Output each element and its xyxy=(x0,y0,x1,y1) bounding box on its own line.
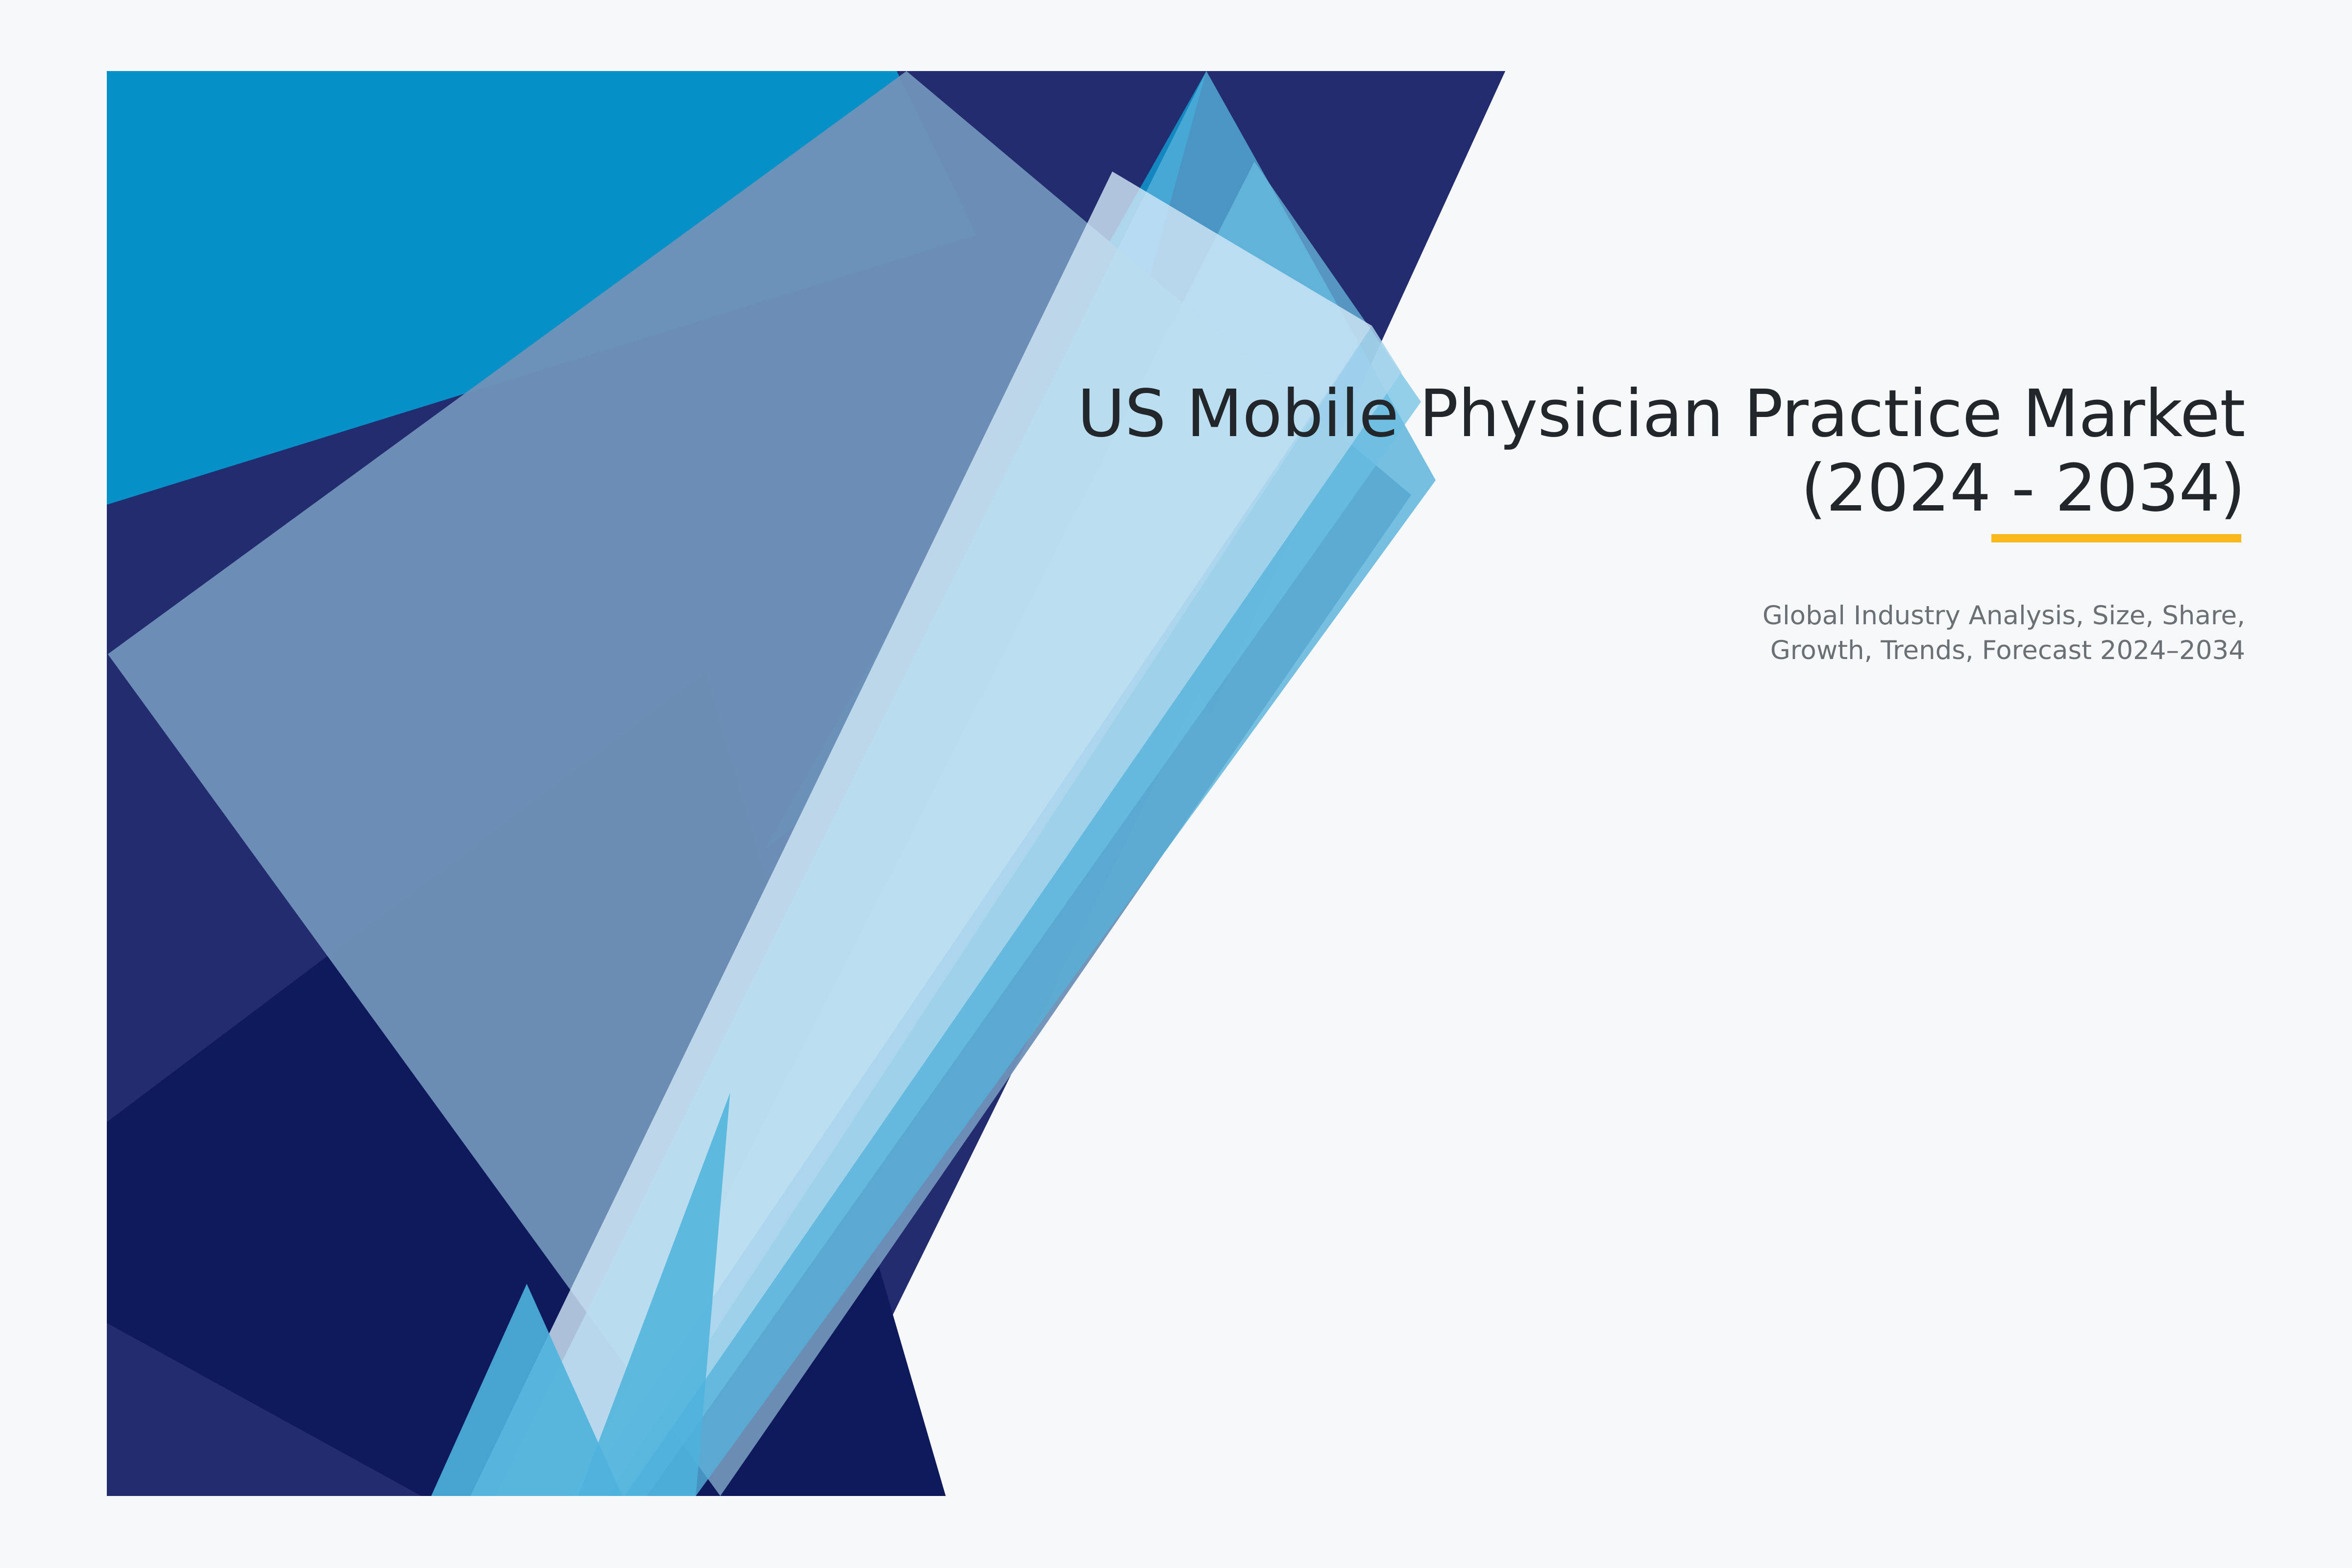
abstract-polygon-graphic xyxy=(0,0,2352,1568)
page-title: US Mobile Physician Practice Market (202… xyxy=(912,377,2245,526)
shape-steel-blue-overlay xyxy=(108,71,1411,1496)
shape-bright-blue-field xyxy=(107,71,1505,1496)
title-accent-underline xyxy=(1991,534,2241,542)
shape-bottom-right-cyan-sliver xyxy=(578,1093,730,1496)
shape-mid-cyan-band xyxy=(495,71,1436,1496)
shape-bottom-cyan-notch xyxy=(431,1284,622,1496)
shape-navy-wedge xyxy=(107,71,1505,1496)
cover-text-block: US Mobile Physician Practice Market (202… xyxy=(912,377,2245,668)
cover-page: US Mobile Physician Practice Market (202… xyxy=(0,0,2352,1568)
shape-deep-navy-spear xyxy=(107,671,946,1496)
page-subtitle: Global Industry Analysis, Size, Share, G… xyxy=(912,598,2245,668)
shape-sky-blue-band xyxy=(573,162,1421,1496)
title-wrap: US Mobile Physician Practice Market (202… xyxy=(912,377,2245,526)
shape-pale-blue-sheet xyxy=(470,171,1372,1496)
